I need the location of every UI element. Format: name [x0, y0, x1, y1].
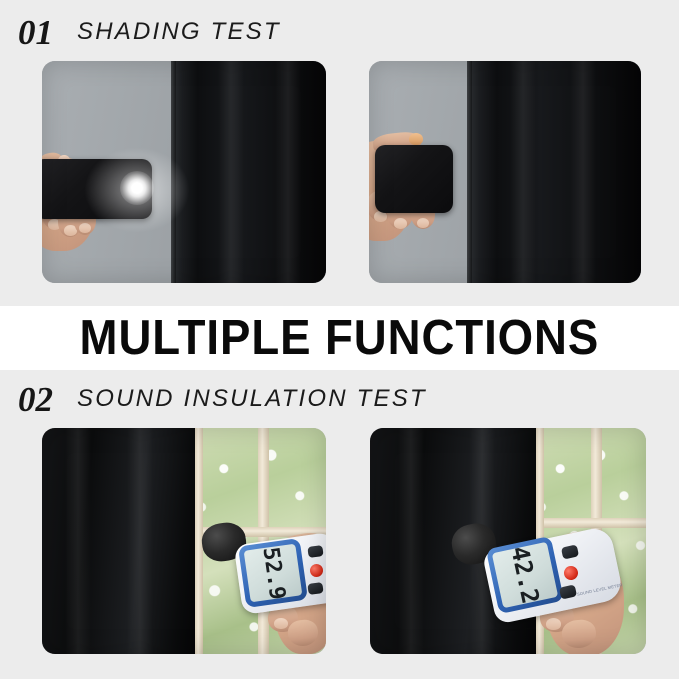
fingernail	[409, 133, 423, 145]
fingernail	[546, 618, 561, 630]
meter-reading-value: 42.2	[505, 544, 544, 606]
section-header-02: 02 SOUND INSULATION TEST	[0, 373, 679, 425]
fingernail	[79, 223, 91, 233]
curtain-fold-highlight	[127, 428, 153, 654]
photo-shading-flashlight-on	[42, 61, 326, 283]
section-title-02: SOUND INSULATION TEST	[77, 387, 427, 411]
banner-title: MULTIPLE FUNCTIONS	[80, 314, 600, 363]
photo-sound-curtain-closed: 42.2 SOUND LEVEL METER	[370, 428, 646, 654]
smartphone	[375, 145, 453, 213]
curtain-fold-highlight	[65, 428, 91, 654]
curtain-fold-highlight	[275, 61, 301, 283]
window-mullion-horizontal	[536, 518, 646, 528]
curtain-fold-highlight	[510, 61, 536, 283]
section-title-01: SHADING TEST	[77, 20, 281, 44]
banner-multiple-functions: MULTIPLE FUNCTIONS	[0, 306, 679, 370]
meter-reading-value: 52.9	[257, 545, 289, 601]
curtain-seam	[467, 61, 472, 283]
fingernail	[394, 218, 407, 229]
curtain-fold-highlight	[398, 428, 424, 654]
blackout-curtain-panel	[171, 61, 326, 283]
section-number-01: 01	[18, 15, 53, 50]
photo-shading-flashlight-off	[369, 61, 641, 283]
photo-sound-window-open: 52.9	[42, 428, 326, 654]
infographic-page: 01 SHADING TEST	[0, 0, 679, 679]
flashlight-led	[120, 171, 154, 205]
fingernail	[417, 218, 429, 228]
fingernail	[274, 618, 288, 629]
meter-lcd-screen: 52.9	[244, 544, 303, 603]
section-header-01: 01 SHADING TEST	[0, 6, 679, 58]
meter-lcd-screen: 42.2	[492, 542, 558, 608]
curtain-fold-highlight	[570, 61, 596, 283]
curtain-fold-highlight	[218, 61, 244, 283]
blackout-curtain-panel	[467, 61, 641, 283]
section-number-02: 02	[18, 382, 53, 417]
